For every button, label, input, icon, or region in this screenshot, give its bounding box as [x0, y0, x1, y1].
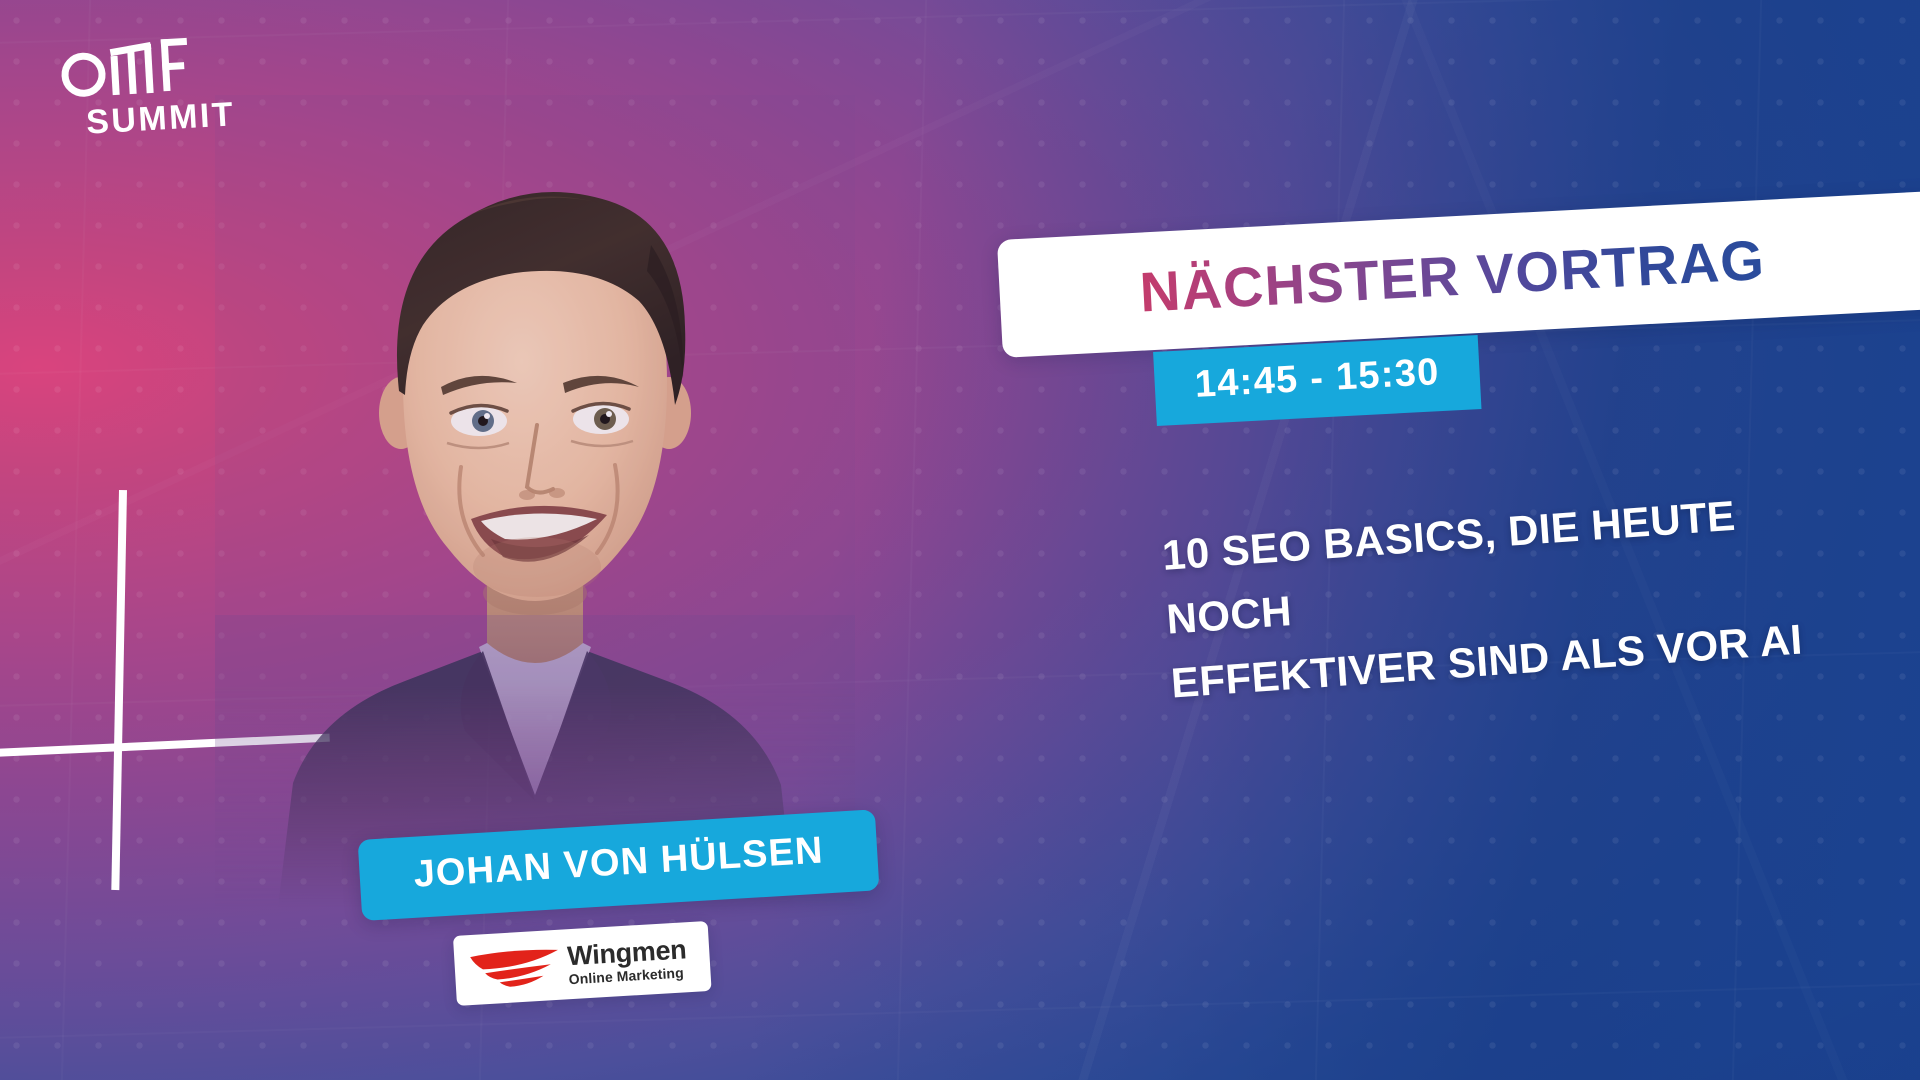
omr-letter-r-top: [161, 38, 187, 46]
omr-logo-icon: [60, 41, 197, 100]
omr-summit-logo: SUMMIT: [60, 38, 236, 140]
speaker-photo: [215, 95, 855, 915]
speaker-name-text: JOHAN VON HÜLSEN: [413, 830, 825, 896]
presentation-slide: NÄCHSTER VORTRAG 14:45 - 15:30 10 SEO BA…: [0, 0, 1920, 1080]
omr-letter-m-stroke-2: [127, 50, 136, 94]
wingmen-wordmark: Wingmen Online Marketing: [567, 936, 688, 986]
session-time-text: 14:45 - 15:30: [1194, 351, 1441, 406]
omr-letter-o: [60, 52, 106, 98]
omr-letter-r-mid: [162, 62, 184, 70]
omr-letter-m-stroke-3: [144, 44, 154, 93]
next-talk-label: NÄCHSTER VORTRAG: [1138, 226, 1766, 324]
omr-summit-wordmark: SUMMIT: [63, 97, 236, 140]
omr-letter-m-stroke-1: [111, 56, 120, 95]
wingmen-wing-icon: [468, 944, 562, 991]
